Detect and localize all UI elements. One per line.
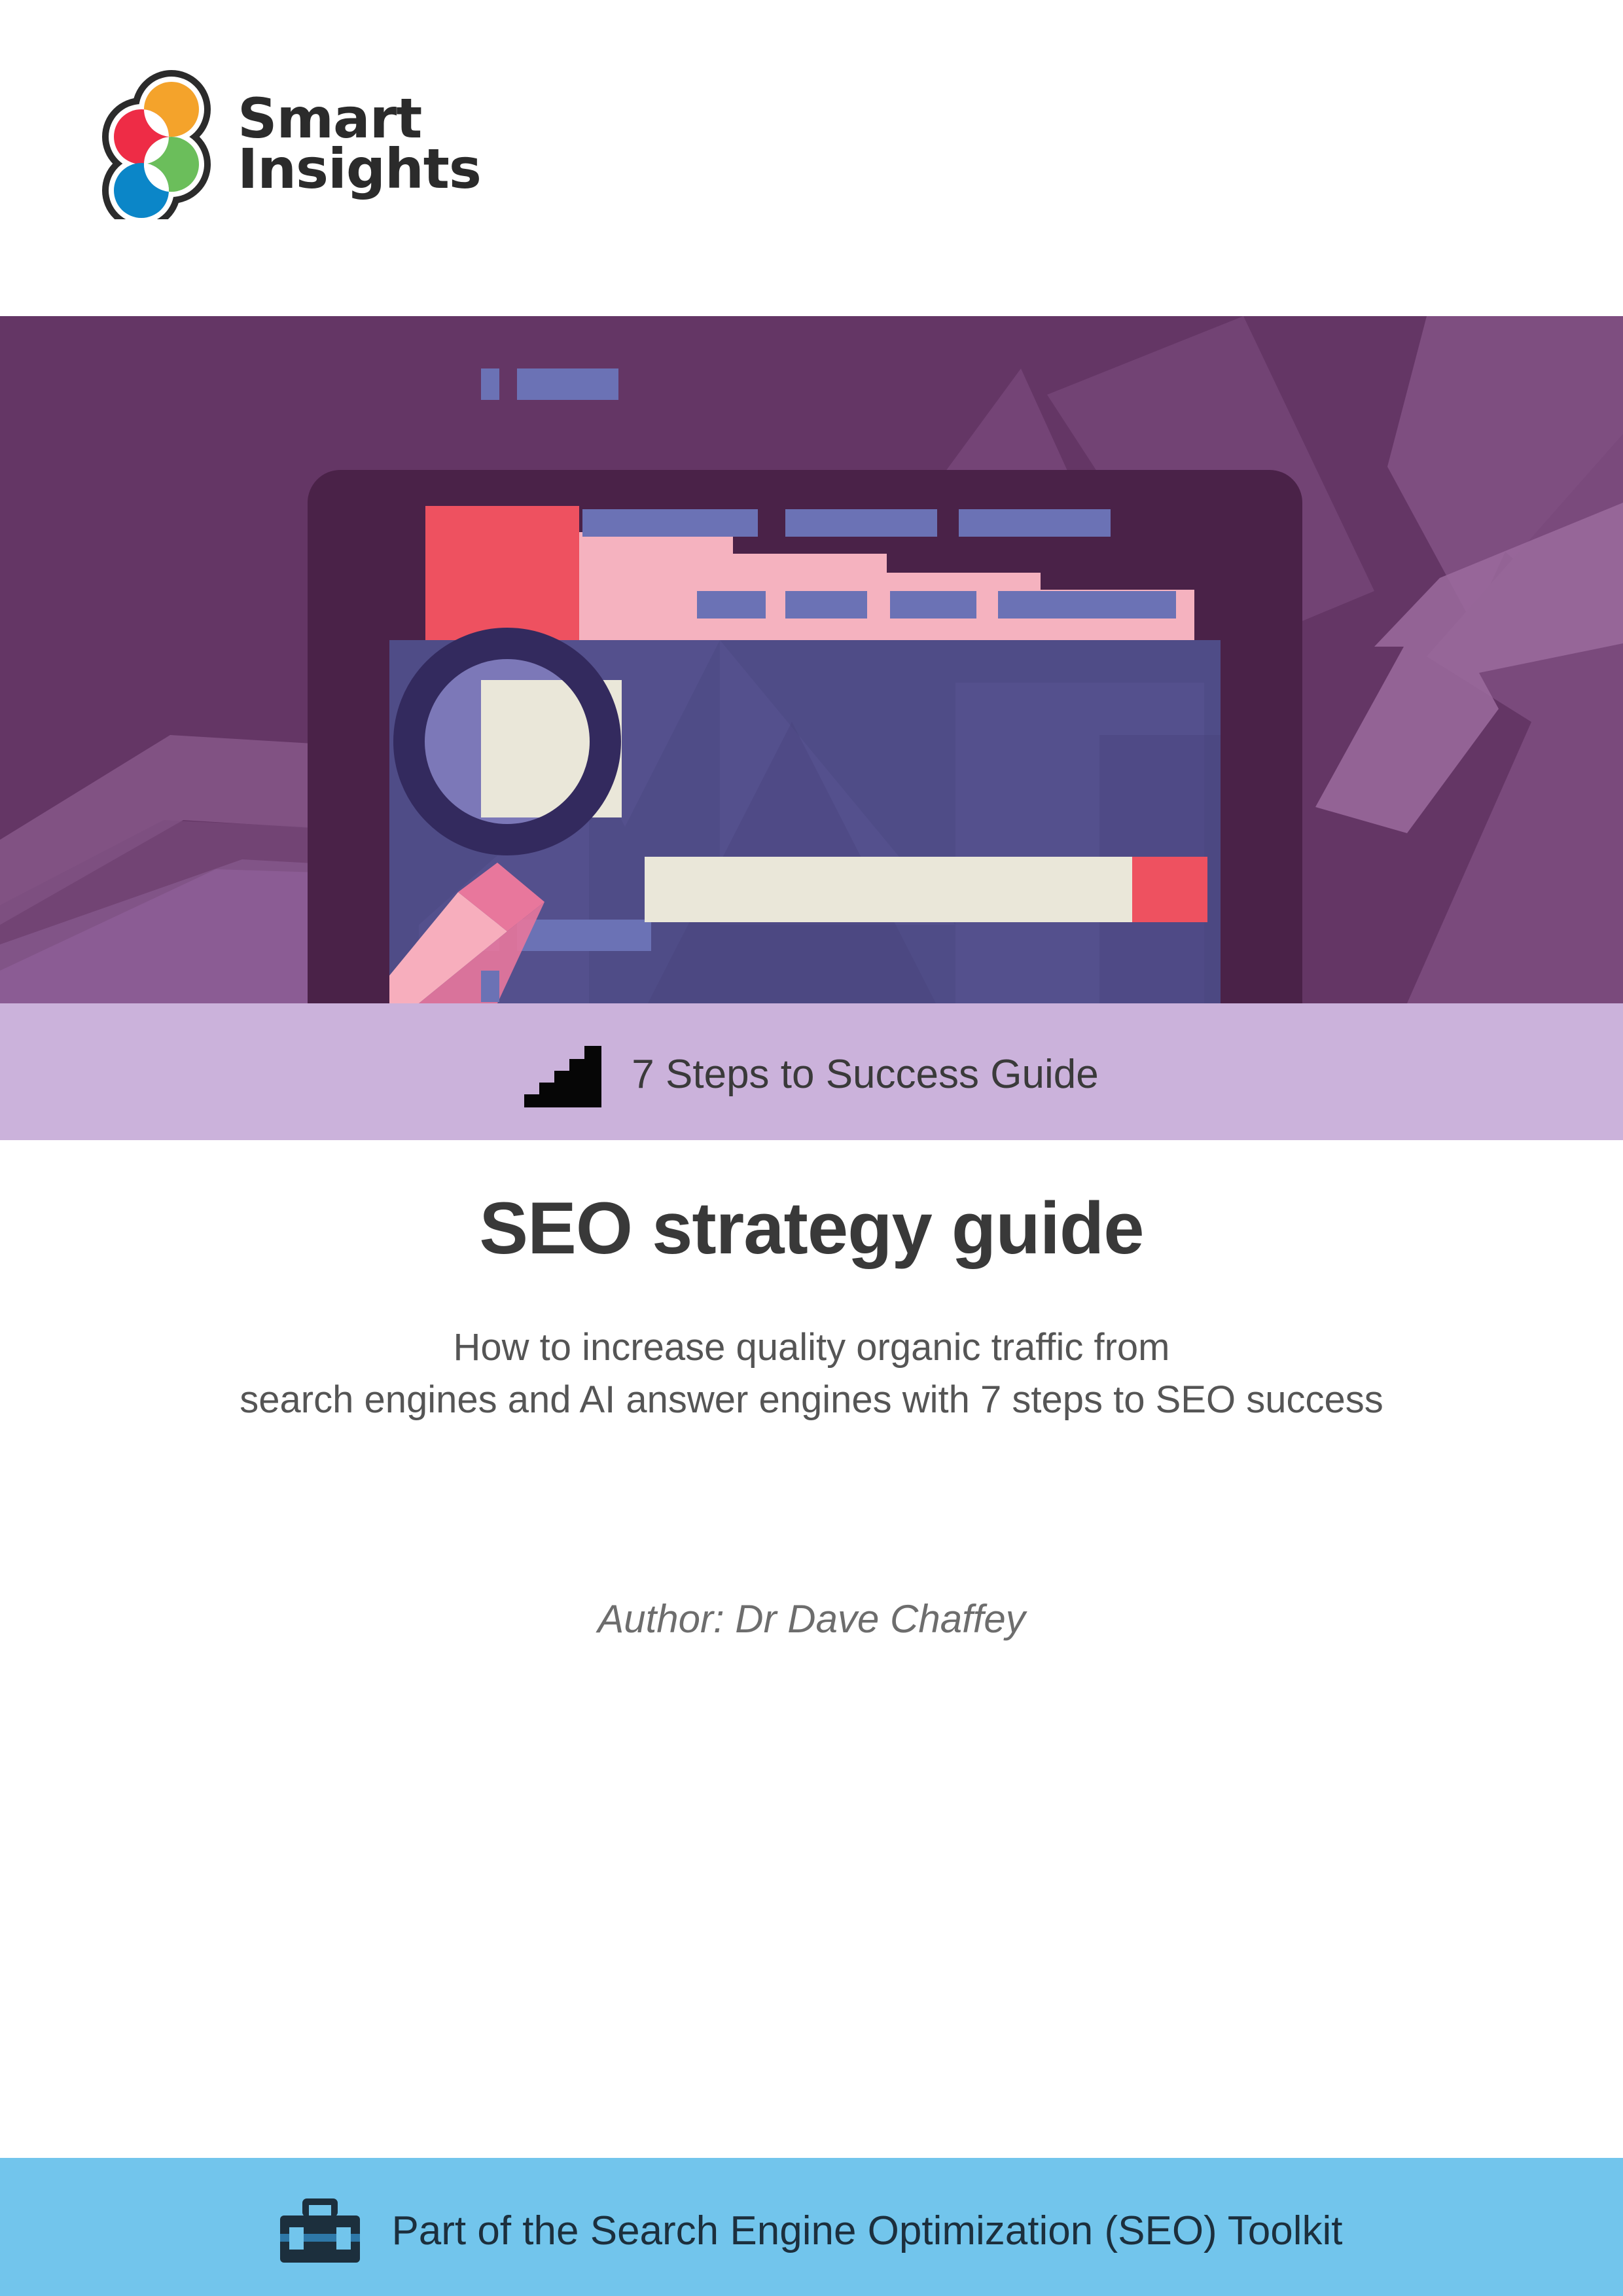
page-subtitle-line-2: search engines and AI answer engines wit… (240, 1378, 1383, 1421)
author-line: Author: Dr Dave Chaffey (0, 1426, 1623, 1641)
page-title: SEO strategy guide (0, 1140, 1623, 1270)
guide-type-banner: 7 Steps to Success Guide (0, 1003, 1623, 1140)
title-block: SEO strategy guide How to increase quali… (0, 1140, 1623, 1641)
guide-type-label: 7 Steps to Success Guide (632, 1051, 1098, 1098)
toolbox-briefcase-icon (280, 2197, 360, 2265)
brand-wordmark: Smart Insights (238, 94, 481, 195)
toolkit-footer: Part of the Search Engine Optimization (… (0, 2158, 1623, 2296)
brand-name-line-2: Insights (238, 144, 481, 194)
page-subtitle: How to increase quality organic traffic … (0, 1270, 1623, 1426)
hero-illustration (0, 316, 1623, 1003)
page-header: Smart Insights (0, 0, 1623, 316)
page-subtitle-line-1: How to increase quality organic traffic … (454, 1326, 1170, 1369)
toolkit-label: Part of the Search Engine Optimization (… (391, 2208, 1342, 2254)
seo-laptop-magnifier-icon (0, 316, 1623, 1003)
smart-insights-venn-logo-icon (98, 69, 219, 219)
brand-logo[interactable]: Smart Insights (98, 69, 481, 219)
stairs-icon (524, 1042, 601, 1107)
